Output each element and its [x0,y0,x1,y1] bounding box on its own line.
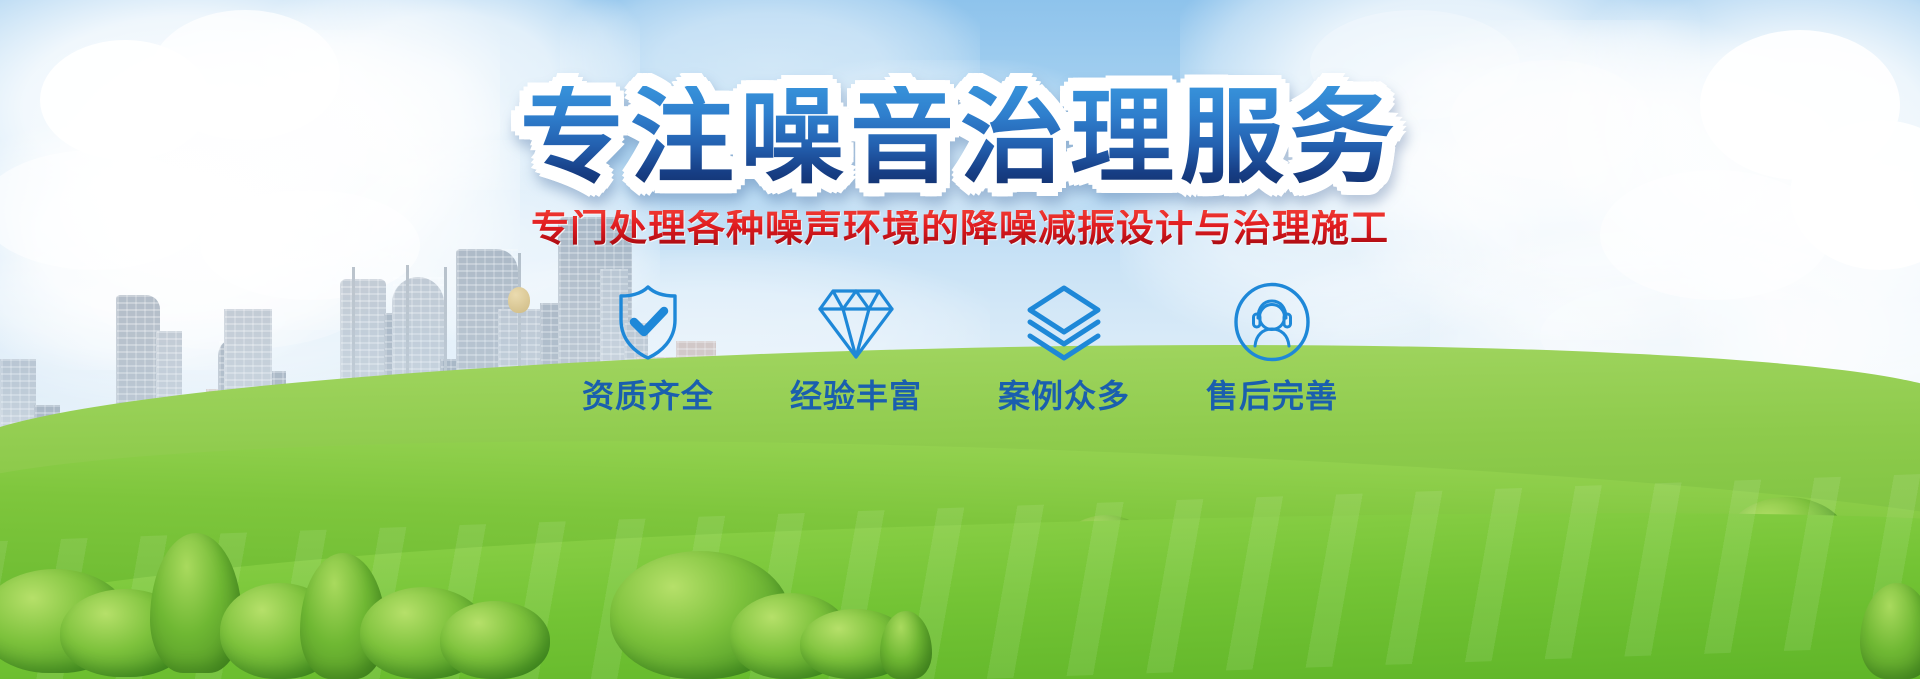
feature-label: 案例众多 [998,380,1130,412]
feature-item-qualification[interactable]: 资质齐全 [572,282,724,412]
feature-list: 资质齐全 经验丰富 [572,282,1348,412]
shield-check-icon [608,282,688,362]
diamond-gem-icon [816,282,896,362]
feature-label: 售后完善 [1206,380,1338,412]
feature-label: 资质齐全 [582,380,714,412]
banner-content: 专注噪音治理服务 专门处理各种噪声环境的降噪减振设计与治理施工 资质齐全 [0,0,1920,679]
page-title: 专注噪音治理服务 [520,86,1400,190]
feature-item-cases[interactable]: 案例众多 [988,282,1140,412]
feature-item-aftersales[interactable]: 售后完善 [1196,282,1348,412]
headset-support-icon [1232,282,1312,362]
page-subtitle: 专门处理各种噪声环境的降噪减振设计与治理施工 [531,210,1389,248]
layers-stack-icon [1024,282,1104,362]
feature-item-experience[interactable]: 经验丰富 [780,282,932,412]
hero-banner: 专注噪音治理服务 专门处理各种噪声环境的降噪减振设计与治理施工 资质齐全 [0,0,1920,679]
feature-label: 经验丰富 [790,380,922,412]
